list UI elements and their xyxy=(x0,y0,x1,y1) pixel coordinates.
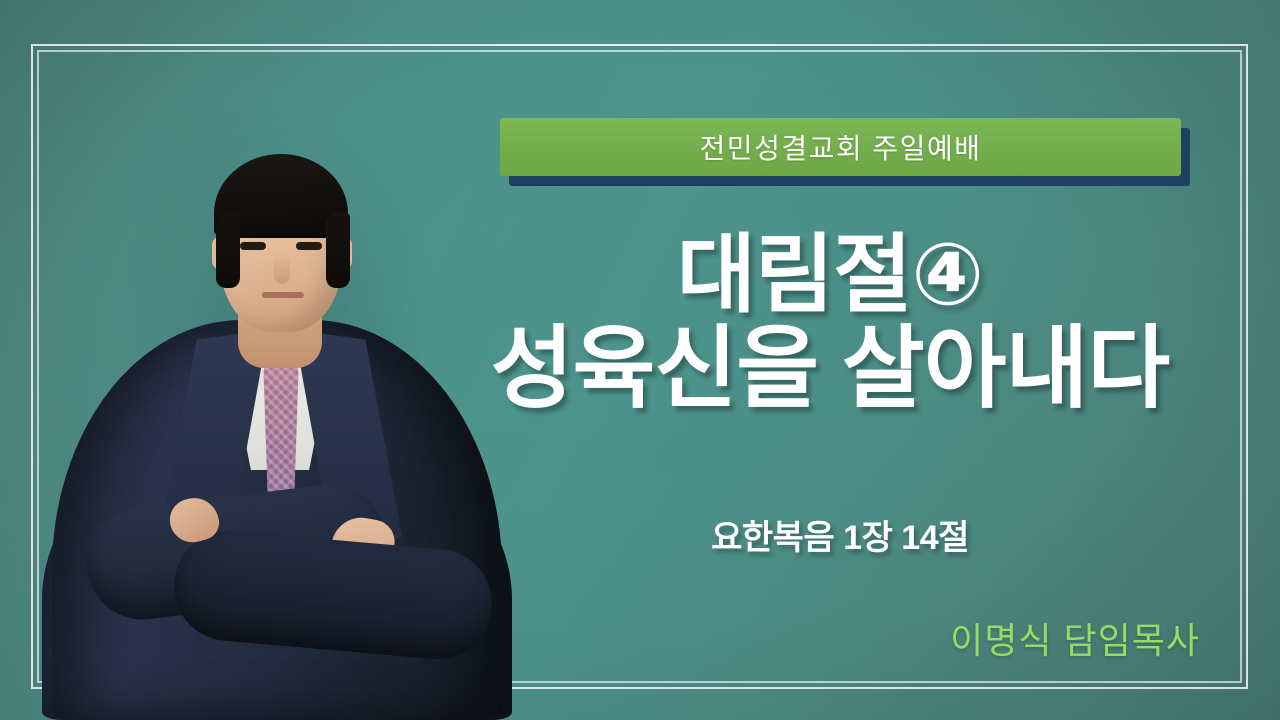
banner-body: 전민성결교회 주일예배 xyxy=(500,118,1181,176)
portrait-mouth xyxy=(262,292,304,298)
church-service-banner: 전민성결교회 주일예배 xyxy=(500,118,1190,186)
sermon-title-line-1: 대림절④ xyxy=(430,232,1230,320)
portrait-eye-right xyxy=(296,242,322,250)
speaker-name: 이명식 담임목사 xyxy=(440,612,1200,664)
portrait-hair-side-right xyxy=(326,212,350,288)
sermon-title-slide: 전민성결교회 주일예배 대림절④ 성육신을 살아내다 요한복음 1장 14절 이… xyxy=(0,0,1280,720)
portrait-hair-side-left xyxy=(216,212,240,288)
portrait-eye-left xyxy=(240,242,266,250)
banner-label: 전민성결교회 주일예배 xyxy=(700,127,982,167)
scripture-reference: 요한복음 1장 14절 xyxy=(440,510,1240,559)
portrait-nose xyxy=(274,254,290,284)
sermon-title-line-2: 성육신을 살아내다 xyxy=(430,324,1230,416)
sermon-title: 대림절④ 성육신을 살아내다 xyxy=(430,232,1230,416)
